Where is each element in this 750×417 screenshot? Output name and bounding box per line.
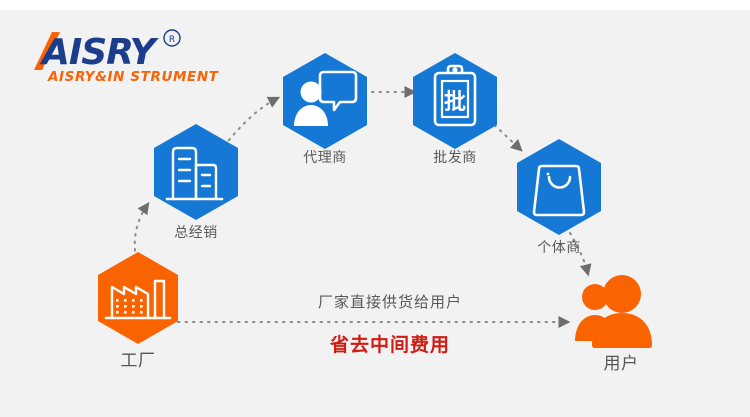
users-icon [575,275,652,348]
label-factory: 工厂 [121,352,156,371]
label-wholesaler: 批发商 [433,150,477,166]
caption-savings: 省去中间费用 [330,330,450,357]
edge-distributor-to-agent [224,98,278,146]
node-agent[interactable] [283,53,367,149]
node-factory[interactable] [98,252,178,344]
wholesaler-glyph: 批 [444,90,466,115]
node-wholesaler[interactable]: 批 [413,53,497,149]
node-general-distributor[interactable] [154,124,238,220]
label-general-distributor: 总经销 [174,225,218,241]
label-user: 用户 [604,355,639,374]
diagram-canvas: AISRY R AISRY&IN STRUMENT [0,0,750,417]
caption-direct-supply: 厂家直接供货给用户 [318,291,462,312]
node-individual-merchant[interactable] [517,139,601,235]
label-agent: 代理商 [303,150,347,166]
node-user[interactable] [575,275,652,348]
label-individual-merchant: 个体商 [537,240,581,256]
factory-hexagon [98,252,178,344]
edge-factory-to-distributor [135,204,148,258]
